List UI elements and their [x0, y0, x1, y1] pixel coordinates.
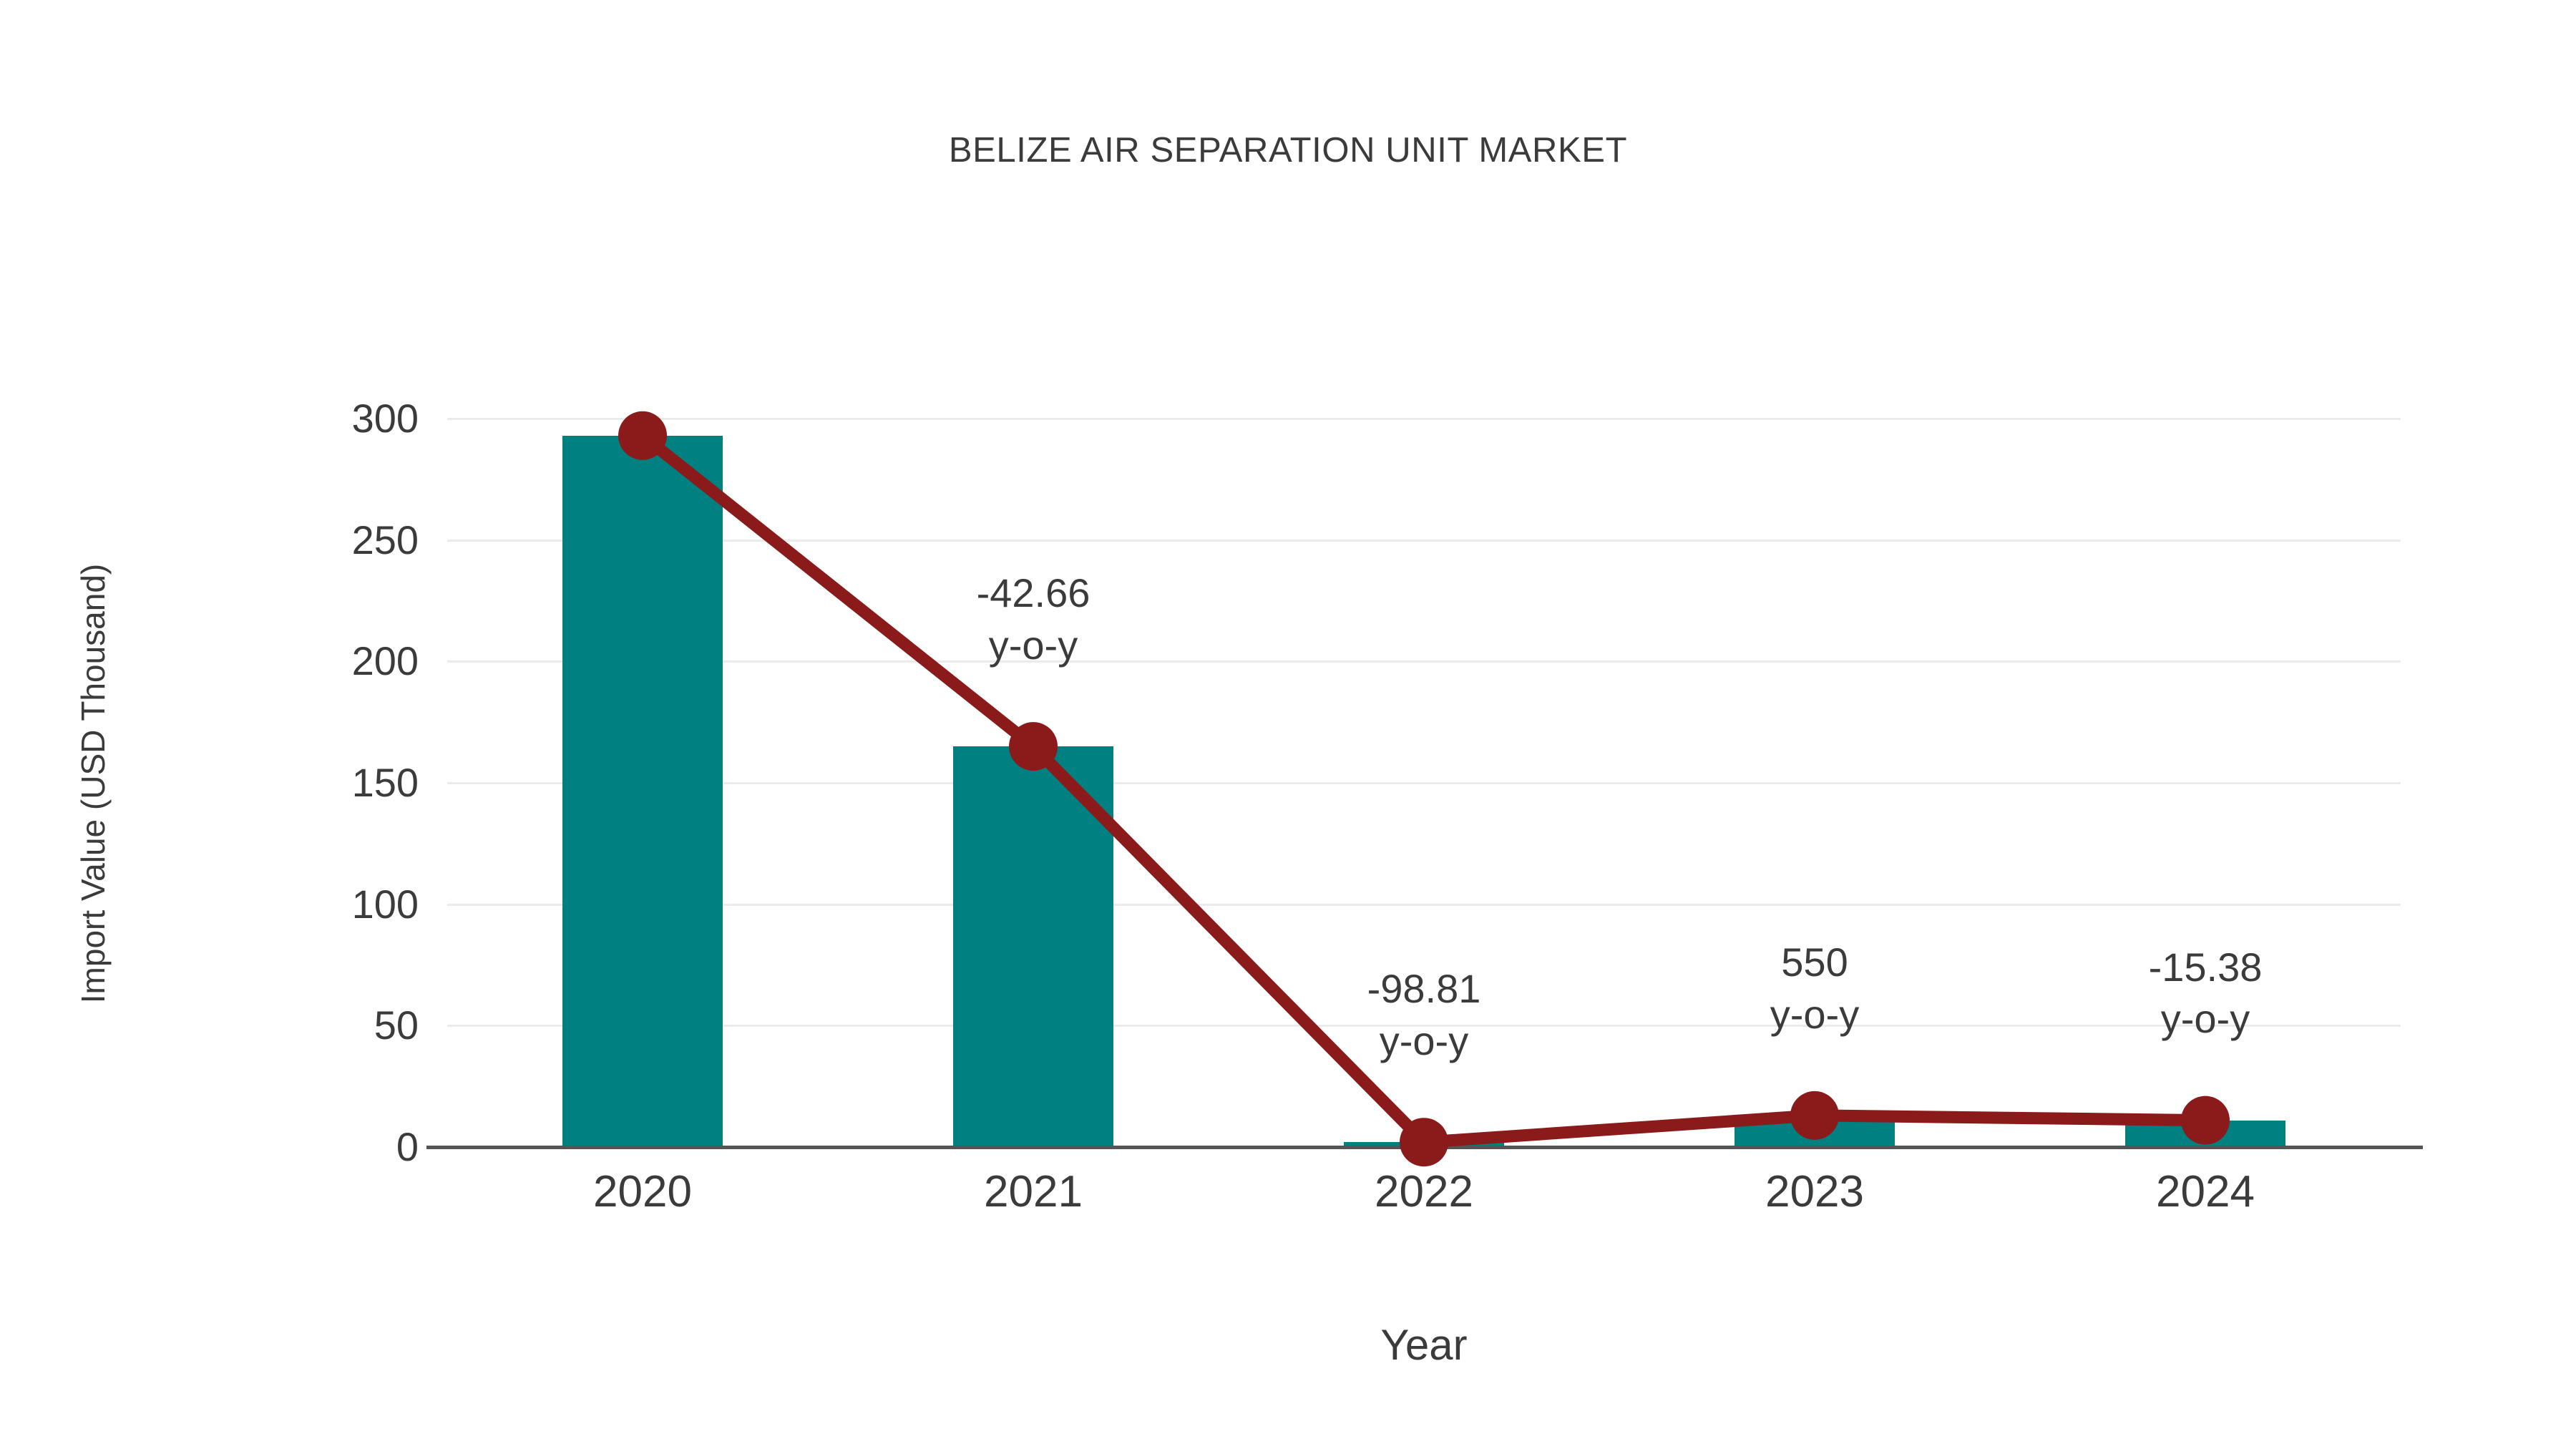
annotation-value: -42.66 — [977, 570, 1091, 615]
gridline — [447, 540, 2401, 542]
bar — [562, 436, 723, 1147]
y-axis-tick-label: 0 — [204, 1127, 419, 1167]
x-axis-tick-label: 2023 — [1672, 1166, 1958, 1217]
y-axis-tick-label: 50 — [204, 1005, 419, 1045]
y-axis-tick-label: 300 — [204, 399, 419, 439]
y-axis-tick-label: 250 — [204, 520, 419, 560]
bar — [2125, 1121, 2285, 1147]
x-axis-tick-label: 2022 — [1281, 1166, 1567, 1217]
annotation-value: -98.81 — [1367, 966, 1481, 1011]
x-axis-line — [426, 1146, 2423, 1149]
gridline — [447, 904, 2401, 906]
y-axis-tick-label: 200 — [204, 641, 419, 681]
x-axis-title: Year — [447, 1320, 2401, 1370]
annotation-value: -15.38 — [2149, 945, 2263, 990]
y-axis-tick-labels: 300250200150100500 — [204, 0, 419, 1449]
annotation-yoy-label: y-o-y — [869, 620, 1198, 672]
annotation-value: 550 — [1781, 940, 1848, 985]
x-axis-tick-label: 2024 — [2062, 1166, 2348, 1217]
y-axis-tick-label: 150 — [204, 763, 419, 803]
point-annotation: -98.81y-o-y — [1259, 963, 1589, 1068]
x-axis-tick-label: 2021 — [890, 1166, 1176, 1217]
y-axis-title: Import Value (USD Thousand) — [68, 390, 118, 1177]
annotation-yoy-label: y-o-y — [2041, 993, 2370, 1045]
chart-canvas: BELIZE AIR SEPARATION UNIT MARKET Import… — [0, 0, 2576, 1449]
gridline — [447, 660, 2401, 663]
x-axis-tick-label: 2020 — [499, 1166, 786, 1217]
bar — [953, 746, 1113, 1147]
annotation-yoy-label: y-o-y — [1259, 1015, 1589, 1068]
gridline — [447, 418, 2401, 420]
y-axis-tick-label: 100 — [204, 884, 419, 924]
bar — [1735, 1116, 1895, 1147]
point-annotation: -42.66y-o-y — [869, 567, 1198, 672]
annotation-yoy-label: y-o-y — [1650, 989, 1979, 1041]
gridline — [447, 782, 2401, 784]
point-annotation: -15.38y-o-y — [2041, 942, 2370, 1046]
point-annotation: 550y-o-y — [1650, 937, 1979, 1041]
